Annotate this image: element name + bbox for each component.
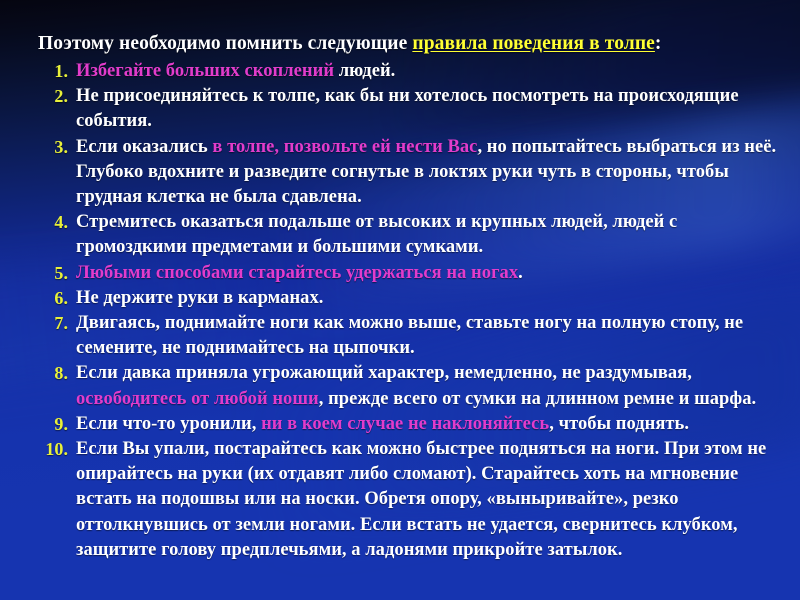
heading-highlight: правила поведения в толпе xyxy=(412,33,655,54)
rule-number: 9. xyxy=(38,412,68,437)
rule-text: Если давка приняла угрожающий характер, … xyxy=(76,363,692,383)
rule-text: , чтобы поднять. xyxy=(549,414,689,434)
rule-text: Если что-то уронили, xyxy=(76,414,261,434)
rule-item: 2.Не присоединяйтесь к толпе, как бы ни … xyxy=(38,84,778,134)
rule-text: Двигаясь, поднимайте ноги как можно выше… xyxy=(76,313,743,358)
rule-text: Стремитесь оказаться подальше от высоких… xyxy=(76,212,677,257)
rule-number: 4. xyxy=(38,210,68,235)
rule-text: людей. xyxy=(339,61,396,81)
rule-emphasis-text: Избегайте больших скоплений xyxy=(76,61,339,81)
presentation-slide: Поэтому необходимо помнить следующие пра… xyxy=(0,0,800,600)
rule-number: 8. xyxy=(38,361,68,386)
rule-text: Не держите руки в карманах. xyxy=(76,288,323,308)
rule-item: 5.Любыми способами старайтесь удержаться… xyxy=(38,261,778,286)
rule-emphasis-text: ни в коем случае не наклоняйтесь xyxy=(261,414,549,434)
slide-content: Поэтому необходимо помнить следующие пра… xyxy=(0,0,800,563)
rule-text: . xyxy=(518,263,523,283)
rules-list: 1.Избегайте больших скоплений людей.2.Не… xyxy=(38,59,778,563)
heading-text-before: Поэтому необходимо помнить следующие xyxy=(38,33,412,54)
heading-text-after: : xyxy=(655,33,662,54)
rule-item: 6.Не держите руки в карманах. xyxy=(38,286,778,311)
rule-text: Если оказались xyxy=(76,137,212,157)
rule-item: 1.Избегайте больших скоплений людей. xyxy=(38,59,778,84)
rule-text: Если Вы упали, постарайтесь как можно бы… xyxy=(76,439,766,560)
rule-emphasis-text: Любыми способами старайтесь удержаться н… xyxy=(76,263,518,283)
rule-number: 1. xyxy=(38,59,68,84)
rule-item: 10.Если Вы упали, постарайтесь как можно… xyxy=(38,437,778,563)
rule-text: , прежде всего от сумки на длинном ремне… xyxy=(319,389,756,409)
rule-number: 3. xyxy=(38,135,68,160)
rule-emphasis-text: в толпе, позвольте ей нести Вас xyxy=(212,137,477,157)
rule-number: 2. xyxy=(38,84,68,109)
rule-number: 6. xyxy=(38,286,68,311)
rule-number: 7. xyxy=(38,311,68,336)
rule-number: 10. xyxy=(38,437,68,462)
rule-item: 8.Если давка приняла угрожающий характер… xyxy=(38,361,778,411)
rule-number: 5. xyxy=(38,261,68,286)
rule-item: 9.Если что-то уронили, ни в коем случае … xyxy=(38,412,778,437)
rule-text: Не присоединяйтесь к толпе, как бы ни хо… xyxy=(76,86,739,131)
rule-item: 7.Двигаясь, поднимайте ноги как можно вы… xyxy=(38,311,778,361)
slide-heading: Поэтому необходимо помнить следующие пра… xyxy=(38,31,778,57)
rule-item: 4.Стремитесь оказаться подальше от высок… xyxy=(38,210,778,260)
rule-emphasis-text: освободитесь от любой ноши xyxy=(76,389,319,409)
rule-item: 3.Если оказались в толпе, позвольте ей н… xyxy=(38,135,778,211)
